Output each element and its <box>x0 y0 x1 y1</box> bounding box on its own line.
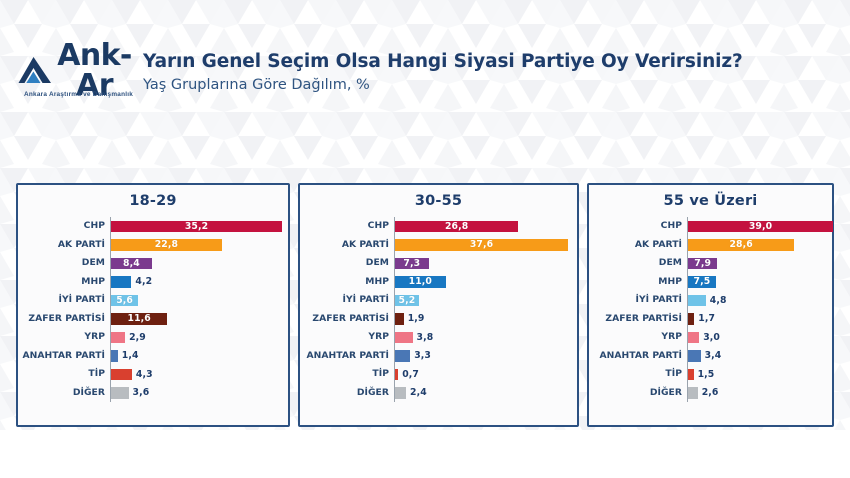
bar-di̇ğer <box>111 387 129 399</box>
bar-dem: 8,4 <box>111 258 152 270</box>
page-subtitle: Yaş Gruplarına Göre Dağılım, % <box>143 77 743 93</box>
panel-title: 55 ve Üzeri <box>589 185 832 209</box>
bar-track: 35,2 <box>110 217 282 236</box>
party-label: ZAFER PARTİSİ <box>300 314 394 324</box>
bar-yrp <box>395 332 413 344</box>
bar-row: MHP7,5 <box>589 273 826 292</box>
bar-value: 22,8 <box>155 239 178 250</box>
bar-value: 11,0 <box>409 276 432 287</box>
bar-anahtar-parti̇ <box>111 350 118 362</box>
party-label: YRP <box>18 332 110 342</box>
party-label: MHP <box>589 277 687 287</box>
bar-value: 2,4 <box>410 387 427 398</box>
bar-track: 37,6 <box>394 236 568 255</box>
bar-track: 3,6 <box>110 384 280 403</box>
party-label: ZAFER PARTİSİ <box>589 314 687 324</box>
bar-value: 0,7 <box>402 369 419 380</box>
bar-value: 7,9 <box>694 258 711 269</box>
bar-row: YRP3,0 <box>589 328 826 347</box>
bar-track: 39,0 <box>687 217 833 236</box>
bar-row: DİĞER2,6 <box>589 384 826 403</box>
bar-value: 3,8 <box>417 332 434 343</box>
bar-zafer-parti̇si̇ <box>688 313 694 325</box>
bar-row: DEM7,9 <box>589 254 826 273</box>
bar-track: 1,9 <box>394 310 567 329</box>
bar-dem: 7,3 <box>395 258 429 270</box>
bar-value: 3,3 <box>414 350 431 361</box>
bar-row: CHP26,8 <box>300 217 567 236</box>
party-label: AK PARTİ <box>18 240 110 250</box>
bar-track: 28,6 <box>687 236 826 255</box>
bar-track: 1,7 <box>687 310 826 329</box>
bar-value: 4,3 <box>136 369 153 380</box>
bar-value: 26,8 <box>445 221 468 232</box>
bar-value: 5,2 <box>399 295 416 306</box>
bar-track: 2,4 <box>394 384 567 403</box>
panel-rows: CHP26,8AK PARTİ37,6DEM7,3MHP11,0İYİ PART… <box>300 217 577 402</box>
bar-value: 2,9 <box>129 332 146 343</box>
panel-rows: CHP35,2AK PARTİ22,8DEM8,4MHP4,2İYİ PARTİ… <box>18 217 288 402</box>
bar-value: 5,6 <box>116 295 133 306</box>
bar-track: 5,6 <box>110 291 280 310</box>
bar-value: 1,7 <box>698 313 715 324</box>
bar-row: CHP39,0 <box>589 217 826 236</box>
bar-row: DEM7,3 <box>300 254 567 273</box>
bar-track: 5,2 <box>394 291 567 310</box>
bar-track: 26,8 <box>394 217 567 236</box>
age-group-panel-1: 30-55CHP26,8AK PARTİ37,6DEM7,3MHP11,0İYİ… <box>298 183 579 427</box>
panel-title: 18-29 <box>18 185 288 209</box>
bar-ti̇p <box>688 369 694 381</box>
bar-ti̇p <box>395 369 398 381</box>
age-group-panel-2: 55 ve ÜzeriCHP39,0AK PARTİ28,6DEM7,9MHP7… <box>587 183 834 427</box>
bar-ak-parti̇: 22,8 <box>111 239 222 251</box>
bar-track: 1,5 <box>687 365 826 384</box>
party-label: TİP <box>589 369 687 379</box>
bar-di̇ğer <box>688 387 698 399</box>
party-label: ZAFER PARTİSİ <box>18 314 110 324</box>
panel-rows: CHP39,0AK PARTİ28,6DEM7,9MHP7,5İYİ PARTİ… <box>589 217 832 402</box>
bar-row: TİP1,5 <box>589 365 826 384</box>
bar-value: 3,6 <box>133 387 150 398</box>
bar-value: 7,5 <box>694 276 711 287</box>
party-label: ANAHTAR PARTİ <box>18 351 110 361</box>
bar-row: TİP0,7 <box>300 365 567 384</box>
party-label: İYİ PARTİ <box>18 295 110 305</box>
bar-track: 8,4 <box>110 254 280 273</box>
bar-row: İYİ PARTİ5,2 <box>300 291 567 310</box>
bar-mhp <box>111 276 131 288</box>
bar-value: 4,8 <box>710 295 727 306</box>
bar-row: DİĞER3,6 <box>18 384 280 403</box>
bar-dem: 7,9 <box>688 258 717 270</box>
party-label: MHP <box>300 277 394 287</box>
bar-row: AK PARTİ22,8 <box>18 236 280 255</box>
party-label: AK PARTİ <box>589 240 687 250</box>
bar-row: DEM8,4 <box>18 254 280 273</box>
bar-track: 3,4 <box>687 347 826 366</box>
bar-mhp: 7,5 <box>688 276 716 288</box>
bar-value: 3,0 <box>703 332 720 343</box>
bar-value: 28,6 <box>729 239 752 250</box>
bar-value: 4,2 <box>135 276 152 287</box>
party-label: İYİ PARTİ <box>300 295 394 305</box>
panel-title: 30-55 <box>300 185 577 209</box>
bar-row: AK PARTİ37,6 <box>300 236 567 255</box>
age-group-panel-0: 18-29CHP35,2AK PARTİ22,8DEM8,4MHP4,2İYİ … <box>16 183 290 427</box>
bar-ak-parti̇: 28,6 <box>688 239 794 251</box>
party-label: DEM <box>18 258 110 268</box>
bar-i̇yi̇-parti̇: 5,2 <box>395 295 419 307</box>
bar-track: 3,3 <box>394 347 567 366</box>
bar-track: 4,3 <box>110 365 280 384</box>
bar-value: 39,0 <box>749 221 772 232</box>
party-label: TİP <box>300 369 394 379</box>
bar-value: 1,9 <box>408 313 425 324</box>
bar-value: 1,4 <box>122 350 139 361</box>
party-label: DİĞER <box>300 388 394 398</box>
brand-logo: Ank-Ar Ankara Araştırma ve Danışmanlık <box>18 54 138 98</box>
bar-value: 7,3 <box>403 258 420 269</box>
bar-yrp <box>688 332 699 344</box>
party-label: TİP <box>18 369 110 379</box>
bar-row: ANAHTAR PARTİ1,4 <box>18 347 280 366</box>
bar-row: İYİ PARTİ4,8 <box>589 291 826 310</box>
bar-row: CHP35,2 <box>18 217 280 236</box>
bar-anahtar-parti̇ <box>688 350 701 362</box>
bar-value: 2,6 <box>702 387 719 398</box>
bar-track: 7,9 <box>687 254 826 273</box>
party-label: İYİ PARTİ <box>589 295 687 305</box>
bar-track: 22,8 <box>110 236 280 255</box>
bar-row: ZAFER PARTİSİ1,7 <box>589 310 826 329</box>
bar-row: ZAFER PARTİSİ11,6 <box>18 310 280 329</box>
page-header: Ank-Ar Ankara Araştırma ve Danışmanlık Y… <box>0 38 850 110</box>
bar-anahtar-parti̇ <box>395 350 410 362</box>
logo-subtitle: Ankara Araştırma ve Danışmanlık <box>18 91 138 98</box>
bar-row: AK PARTİ28,6 <box>589 236 826 255</box>
bar-track: 4,8 <box>687 291 826 310</box>
bar-row: ANAHTAR PARTİ3,3 <box>300 347 567 366</box>
bar-track: 7,5 <box>687 273 826 292</box>
party-label: CHP <box>18 221 110 231</box>
bar-value: 3,4 <box>705 350 722 361</box>
bar-row: DİĞER2,4 <box>300 384 567 403</box>
bar-track: 11,6 <box>110 310 280 329</box>
bar-ak-parti̇: 37,6 <box>395 239 568 251</box>
party-label: YRP <box>300 332 394 342</box>
bar-row: YRP2,9 <box>18 328 280 347</box>
bar-row: YRP3,8 <box>300 328 567 347</box>
bar-i̇yi̇-parti̇: 5,6 <box>111 295 138 307</box>
ank-ar-chevron-icon <box>18 56 52 86</box>
bar-chp: 26,8 <box>395 221 518 233</box>
bar-zafer-parti̇si̇ <box>395 313 404 325</box>
bar-row: ZAFER PARTİSİ1,9 <box>300 310 567 329</box>
bar-track: 2,6 <box>687 384 826 403</box>
party-label: ANAHTAR PARTİ <box>589 351 687 361</box>
bar-value: 1,5 <box>698 369 715 380</box>
party-label: CHP <box>300 221 394 231</box>
party-label: ANAHTAR PARTİ <box>300 351 394 361</box>
party-label: AK PARTİ <box>300 240 394 250</box>
bar-value: 37,6 <box>470 239 493 250</box>
party-label: CHP <box>589 221 687 231</box>
bar-ti̇p <box>111 369 132 381</box>
party-label: DİĞER <box>589 388 687 398</box>
bar-track: 0,7 <box>394 365 567 384</box>
bar-value: 35,2 <box>185 221 208 232</box>
bar-row: ANAHTAR PARTİ3,4 <box>589 347 826 366</box>
bar-chp: 39,0 <box>688 221 833 233</box>
bar-mhp: 11,0 <box>395 276 446 288</box>
bar-zafer-parti̇si̇: 11,6 <box>111 313 167 325</box>
bar-row: MHP11,0 <box>300 273 567 292</box>
party-label: DEM <box>300 258 394 268</box>
bar-di̇ğer <box>395 387 406 399</box>
bar-track: 3,0 <box>687 328 826 347</box>
bar-chp: 35,2 <box>111 221 282 233</box>
bar-track: 4,2 <box>110 273 280 292</box>
bar-i̇yi̇-parti̇ <box>688 295 706 307</box>
bar-track: 1,4 <box>110 347 280 366</box>
page-title: Yarın Genel Seçim Olsa Hangi Siyasi Part… <box>143 51 743 72</box>
bar-row: MHP4,2 <box>18 273 280 292</box>
party-label: DİĞER <box>18 388 110 398</box>
bar-value: 8,4 <box>123 258 140 269</box>
bar-track: 3,8 <box>394 328 567 347</box>
bar-yrp <box>111 332 125 344</box>
chart-panels: 18-29CHP35,2AK PARTİ22,8DEM8,4MHP4,2İYİ … <box>0 183 850 427</box>
party-label: MHP <box>18 277 110 287</box>
bar-track: 2,9 <box>110 328 280 347</box>
bar-value: 11,6 <box>128 313 151 324</box>
party-label: YRP <box>589 332 687 342</box>
title-block: Yarın Genel Seçim Olsa Hangi Siyasi Part… <box>143 51 743 93</box>
bar-track: 11,0 <box>394 273 567 292</box>
party-label: DEM <box>589 258 687 268</box>
bar-row: TİP4,3 <box>18 365 280 384</box>
bar-row: İYİ PARTİ5,6 <box>18 291 280 310</box>
bar-track: 7,3 <box>394 254 567 273</box>
